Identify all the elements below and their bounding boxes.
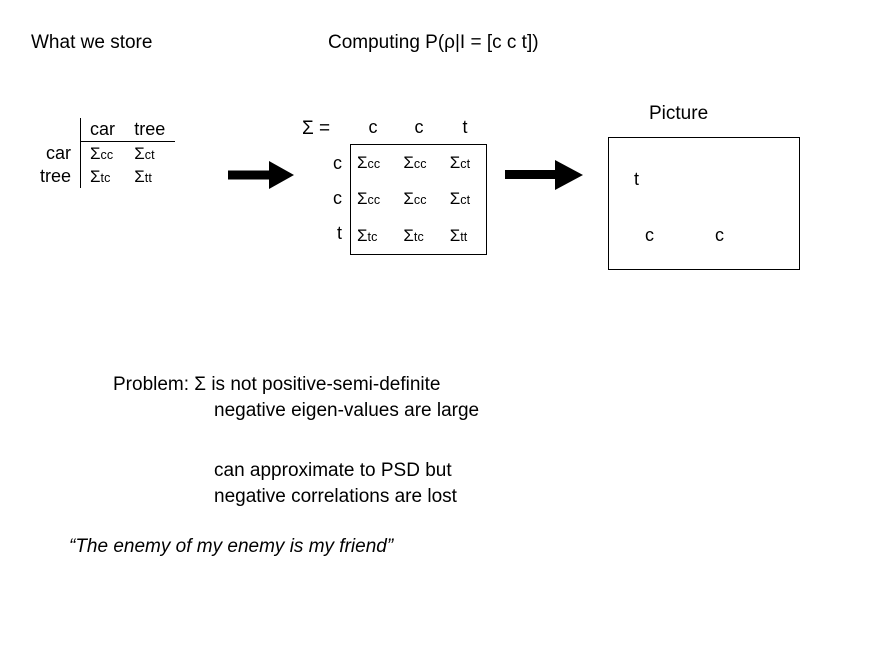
cell-sigma-tc: Σtc bbox=[81, 165, 126, 188]
matrix-cell-r3c1: Σtc bbox=[351, 218, 397, 254]
row-header-tree: tree bbox=[40, 165, 81, 188]
cell-sigma-tt: Σtt bbox=[125, 165, 175, 188]
matrix-cell-r1c1: Σcc bbox=[351, 145, 397, 181]
matrix-row: Σcc Σcc Σct bbox=[351, 145, 486, 181]
sigma-glyph: Σ bbox=[403, 153, 414, 172]
sigma-glyph: Σ bbox=[403, 189, 414, 208]
sigma-subscript: tc bbox=[368, 230, 378, 244]
matrix-cell-r3c2: Σtc bbox=[397, 218, 443, 254]
column-header-tree: tree bbox=[125, 118, 175, 142]
sigma-glyph: Σ bbox=[90, 167, 101, 186]
note-quote: “The enemy of my enemy is my friend” bbox=[69, 534, 393, 560]
sigma-subscript: tt bbox=[145, 171, 152, 185]
sigma-subscript: tc bbox=[101, 171, 111, 185]
picture-label: Picture bbox=[649, 103, 708, 125]
picture-box: t c c bbox=[608, 137, 800, 270]
note-approximation-line-1: can approximate to PSD but bbox=[214, 458, 452, 484]
table-row: car Σcc Σct bbox=[40, 142, 175, 165]
table-row: tree Σtc Σtt bbox=[40, 165, 175, 188]
sigma-row-header-2: c bbox=[312, 181, 342, 216]
sigma-subscript: cc bbox=[414, 157, 427, 171]
sigma-col-header-2: c bbox=[396, 117, 442, 138]
matrix-cell-r2c3: Σct bbox=[444, 181, 486, 217]
matrix-cell-r3c3: Σtt bbox=[444, 218, 486, 254]
sigma-row-header-3: t bbox=[312, 216, 342, 251]
row-header-car: car bbox=[40, 142, 81, 165]
sigma-equals-label: Σ = bbox=[302, 118, 330, 140]
sigma-subscript: cc bbox=[414, 193, 427, 207]
sigma-matrix-box: Σcc Σcc Σct Σcc Σcc Σct Σtc Σtc Σtt bbox=[350, 144, 487, 255]
matrix-cell-r2c2: Σcc bbox=[397, 181, 443, 217]
sigma-glyph: Σ bbox=[450, 153, 461, 172]
page-title-computing-probability: Computing P(ρ|I = [c c t]) bbox=[328, 31, 539, 55]
sigma-subscript: ct bbox=[460, 157, 470, 171]
sigma-column-headers: c c t bbox=[350, 117, 488, 138]
matrix-row: Σtc Σtc Σtt bbox=[351, 218, 486, 254]
sigma-row-headers: c c t bbox=[312, 146, 342, 251]
arrow-right-icon-2 bbox=[505, 158, 583, 192]
arrow-right-icon-1 bbox=[228, 160, 294, 190]
column-header-car: car bbox=[81, 118, 126, 142]
sigma-glyph: Σ bbox=[134, 144, 145, 163]
picture-token-c-left: c bbox=[645, 225, 654, 246]
sigma-subscript: cc bbox=[101, 148, 114, 162]
picture-token-t: t bbox=[634, 169, 639, 190]
sigma-glyph: Σ bbox=[357, 153, 368, 172]
note-approximation-line-2: negative correlations are lost bbox=[214, 484, 457, 510]
sigma-glyph: Σ bbox=[134, 167, 145, 186]
cell-sigma-cc: Σcc bbox=[81, 142, 126, 165]
matrix-cell-r1c2: Σcc bbox=[397, 145, 443, 181]
table-corner-cell bbox=[40, 118, 81, 142]
note-problem-line-1: Problem: Σ is not positive-semi-definite bbox=[113, 372, 440, 398]
sigma-subscript: tc bbox=[414, 230, 424, 244]
sigma-glyph: Σ bbox=[403, 226, 414, 245]
note-problem-line-2: negative eigen-values are large bbox=[214, 398, 479, 424]
page-title-what-we-store: What we store bbox=[31, 31, 152, 55]
sigma-glyph: Σ bbox=[450, 189, 461, 208]
matrix-cell-r2c1: Σcc bbox=[351, 181, 397, 217]
sigma-glyph: Σ bbox=[357, 226, 368, 245]
sigma-glyph: Σ bbox=[357, 189, 368, 208]
picture-token-c-right: c bbox=[715, 225, 724, 246]
table-header-row: car tree bbox=[40, 118, 175, 142]
sigma-glyph: Σ bbox=[450, 226, 461, 245]
sigma-subscript: tt bbox=[460, 230, 467, 244]
sigma-subscript: ct bbox=[460, 193, 470, 207]
sigma-col-header-3: t bbox=[442, 117, 488, 138]
sigma-row-header-1: c bbox=[312, 146, 342, 181]
sigma-subscript: cc bbox=[368, 193, 381, 207]
matrix-row: Σcc Σcc Σct bbox=[351, 181, 486, 217]
store-table: car tree car Σcc Σct tree Σtc Σtt bbox=[40, 118, 175, 188]
sigma-col-header-1: c bbox=[350, 117, 396, 138]
sigma-subscript: cc bbox=[368, 157, 381, 171]
cell-sigma-ct: Σct bbox=[125, 142, 175, 165]
matrix-cell-r1c3: Σct bbox=[444, 145, 486, 181]
sigma-glyph: Σ bbox=[90, 144, 101, 163]
sigma-subscript: ct bbox=[145, 148, 155, 162]
